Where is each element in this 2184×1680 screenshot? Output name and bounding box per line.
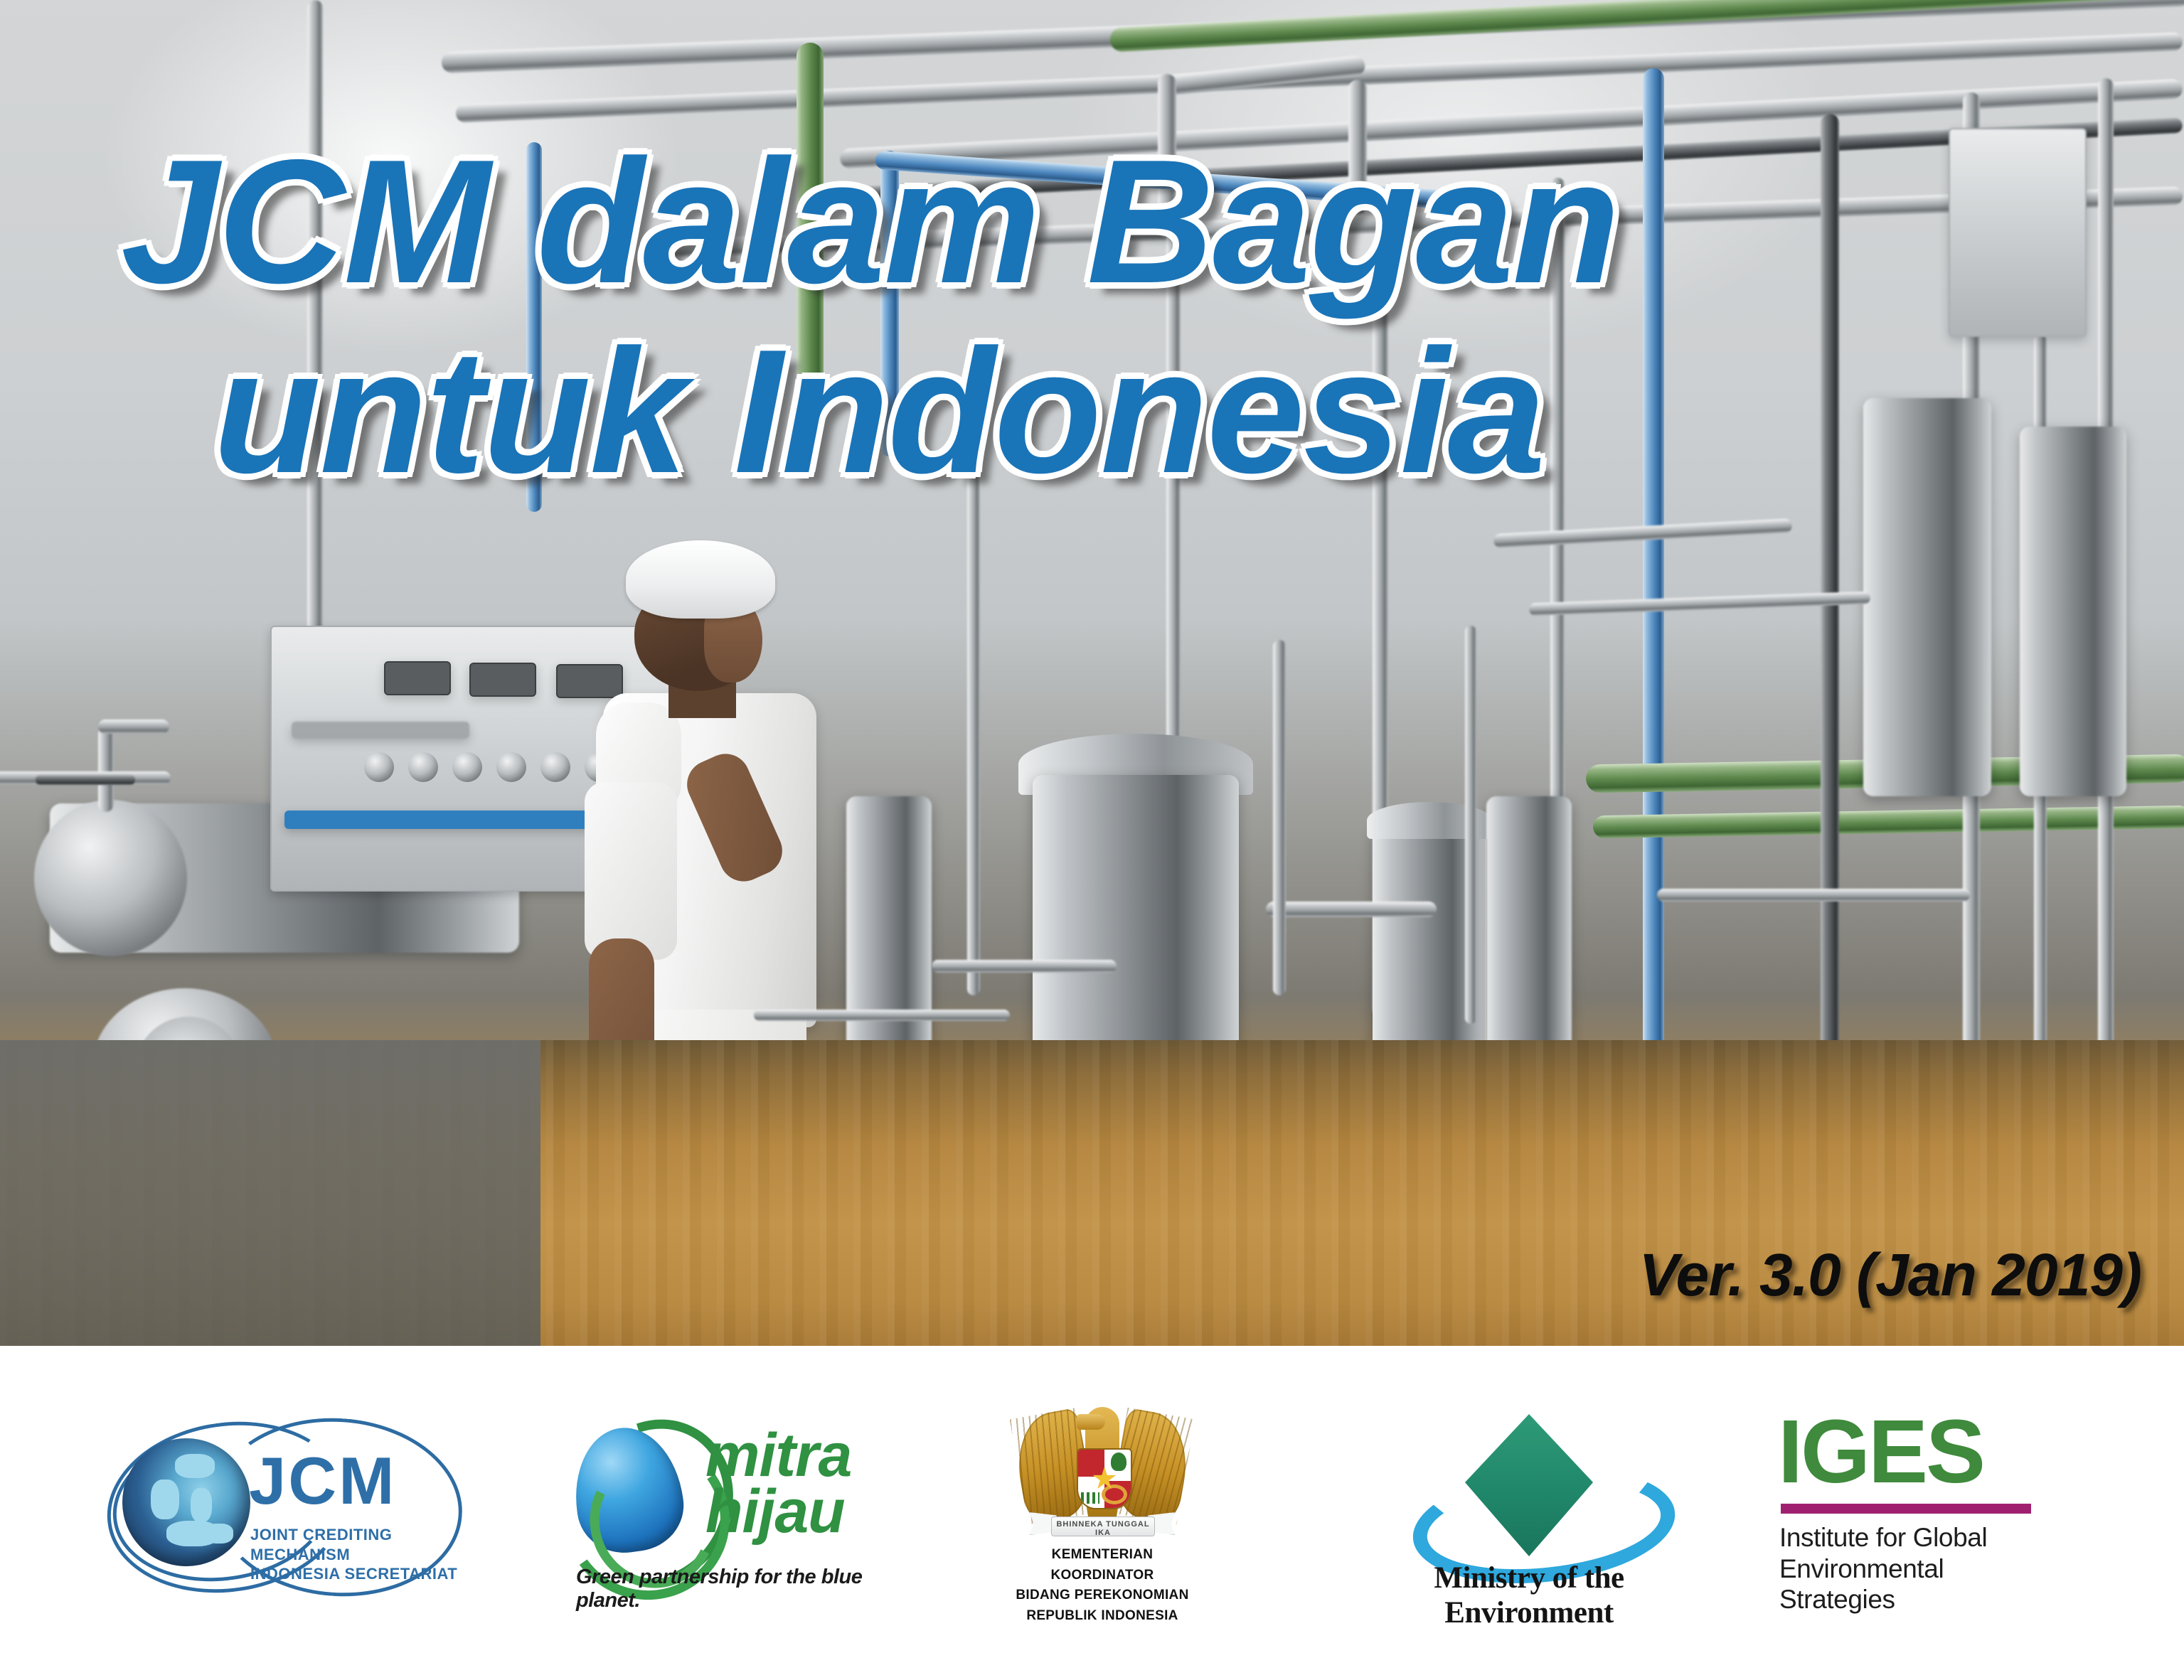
motto-text: BHINNEKA TUNGGAL IKA [1055, 1520, 1151, 1537]
process-pipe-8 [1465, 626, 1476, 1024]
kemenko-line-1: KEMENTERIAN KOORDINATOR [1006, 1545, 1199, 1585]
iges-subtitle-line-2: Environmental Strategies [1779, 1553, 2062, 1615]
title-line-2: untuk Indonesia [213, 325, 2184, 498]
motto-banner: BHINNEKA TUNGGAL IKA [1030, 1511, 1175, 1539]
kemenko-perekonomian-logo[interactable]: BHINNEKA TUNGGAL IKA KEMENTERIAN KOORDIN… [1017, 1403, 1188, 1623]
process-pipe-5 [1657, 889, 1970, 901]
kemenko-line-3: REPUBLIK INDONESIA [1006, 1606, 1199, 1627]
mitra-hijau-wordmark: mitra hijau [705, 1428, 851, 1540]
iges-logo[interactable]: IGES Institute for Global Environmental … [1778, 1417, 2062, 1602]
ministry-of-the-environment-logo[interactable]: Ministry of the Environment [1373, 1414, 1685, 1599]
process-pipe-7 [1273, 640, 1286, 995]
kemenko-line-2: BIDANG PEREKONOMIAN [1006, 1585, 1199, 1606]
panel-knob-1 [364, 752, 394, 782]
kemenko-caption: KEMENTERIAN KOORDINATOR BIDANG PEREKONOM… [1006, 1545, 1199, 1626]
worker-sleeve [585, 782, 677, 960]
cover-photo: JCM dalam Bagan untuk Indonesia Ver. 3.0… [0, 0, 2184, 1346]
pipe-left-arrow [36, 775, 135, 785]
process-pipe-6 [754, 1010, 1010, 1021]
version-label: Ver. 3.0 (Jan 2019) [1639, 1241, 2141, 1310]
jcm-subtitle: JOINT CREDITING MECHANISM INDONESIA SECR… [250, 1525, 462, 1584]
globe-icon [122, 1438, 250, 1566]
hijau-word: hijau [705, 1484, 851, 1540]
cover-title: JCM dalam Bagan untuk Indonesia [0, 135, 2184, 498]
iges-acronym: IGES [1778, 1407, 1983, 1497]
iges-subtitle: Institute for Global Environmental Strat… [1779, 1522, 2062, 1615]
process-pipe-2 [932, 960, 1117, 973]
vessel-riser [98, 727, 114, 812]
title-line-1: JCM dalam Bagan [121, 135, 2184, 308]
mitra-hijau-tagline: Green partnership for the blue planet. [576, 1566, 910, 1612]
process-pipe-1 [1266, 901, 1437, 917]
panel-knob-5 [540, 752, 570, 782]
vessel-end-cap [34, 800, 187, 956]
mitra-word: mitra [705, 1428, 851, 1484]
floor-shadow-left [0, 1040, 540, 1346]
jcm-logo[interactable]: JCM JOINT CREDITING MECHANISM INDONESIA … [107, 1417, 462, 1595]
panel-label [292, 722, 469, 739]
panel-knob-3 [452, 752, 482, 782]
iges-subtitle-line-1: Institute for Global [1779, 1522, 2062, 1553]
footer-logo-strip: JCM JOINT CREDITING MECHANISM INDONESIA … [0, 1346, 2184, 1680]
vessel-riser-top [98, 719, 169, 734]
ministry-of-the-environment-label: Ministry of the Environment [1373, 1561, 1685, 1630]
worker-hairnet-cap [626, 540, 775, 619]
pancasila-shield-icon [1077, 1448, 1132, 1509]
panel-knob-2 [408, 752, 438, 782]
jcm-subtitle-line-1: JOINT CREDITING MECHANISM [250, 1525, 462, 1564]
control-panel-display-2 [469, 663, 536, 697]
control-panel-display-1 [384, 661, 451, 695]
mitra-hijau-logo[interactable]: mitra hijau Green partnership for the bl… [569, 1413, 910, 1605]
panel-knob-4 [496, 752, 526, 782]
jcm-acronym: JCM [249, 1451, 396, 1512]
jcm-subtitle-line-2: INDONESIA SECRETARIAT [250, 1564, 462, 1584]
iges-accent-bar [1781, 1504, 2031, 1514]
cover-page: JCM dalam Bagan untuk Indonesia Ver. 3.0… [0, 0, 2184, 1680]
